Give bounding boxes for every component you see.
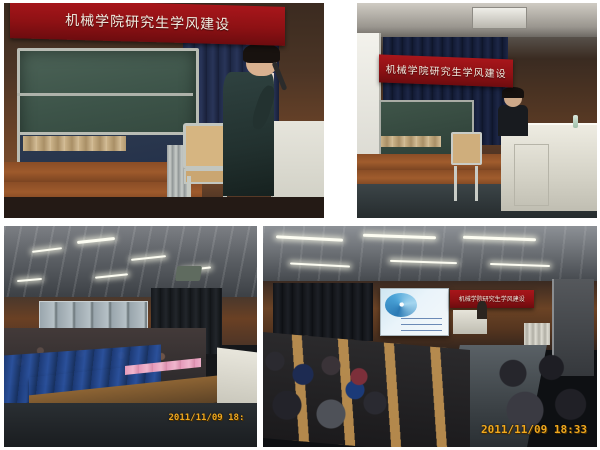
speaker-hair [243, 43, 280, 63]
speaker-person [477, 301, 487, 319]
photo-collage: 机械学院研究生学风建设 机械学院研究生学风建设 [0, 0, 600, 450]
timestamp-bottom-right: 2011/11/09 18:33 [481, 423, 587, 436]
photo-bottom-left[interactable]: 2011/11/09 18: [4, 226, 257, 447]
water-bottle [573, 115, 578, 128]
radiator [524, 323, 551, 345]
slide-text-lines [401, 318, 442, 331]
projection-screen [380, 288, 449, 336]
speaker-person [225, 46, 295, 197]
chair-leg-left [454, 166, 457, 200]
speaker-hair [502, 87, 524, 97]
projector [175, 266, 202, 281]
photo-top-left[interactable]: 机械学院研究生学风建设 [4, 3, 324, 218]
podium [501, 123, 597, 211]
event-banner-top-right: 机械学院研究生学风建设 [379, 54, 513, 87]
speaker-person [496, 89, 530, 136]
slide-graphic [385, 293, 417, 317]
speaker-body [498, 105, 529, 136]
event-banner-bottom-right: 机械学院研究生学风建设 [450, 290, 534, 308]
chair-back [451, 132, 482, 165]
curtain [273, 283, 373, 340]
floor [4, 403, 257, 447]
stage-skirt [23, 136, 125, 151]
floor [4, 197, 324, 219]
ceiling-vent [472, 7, 527, 28]
timestamp-bottom-left: 2011/11/09 18: [169, 413, 245, 423]
chalkboard-rail [17, 93, 193, 96]
photo-bottom-right[interactable]: 机械学院研究生学风建设 2011/11/09 18:33 [263, 226, 597, 447]
chair [451, 132, 482, 201]
chair-leg-right [475, 166, 478, 200]
windows [39, 301, 147, 330]
ceiling-grid [263, 226, 597, 283]
stage-skirt [381, 136, 441, 147]
audience-crowd-left [263, 337, 463, 448]
photo-top-right[interactable]: 机械学院研究生学风建设 [357, 3, 597, 218]
